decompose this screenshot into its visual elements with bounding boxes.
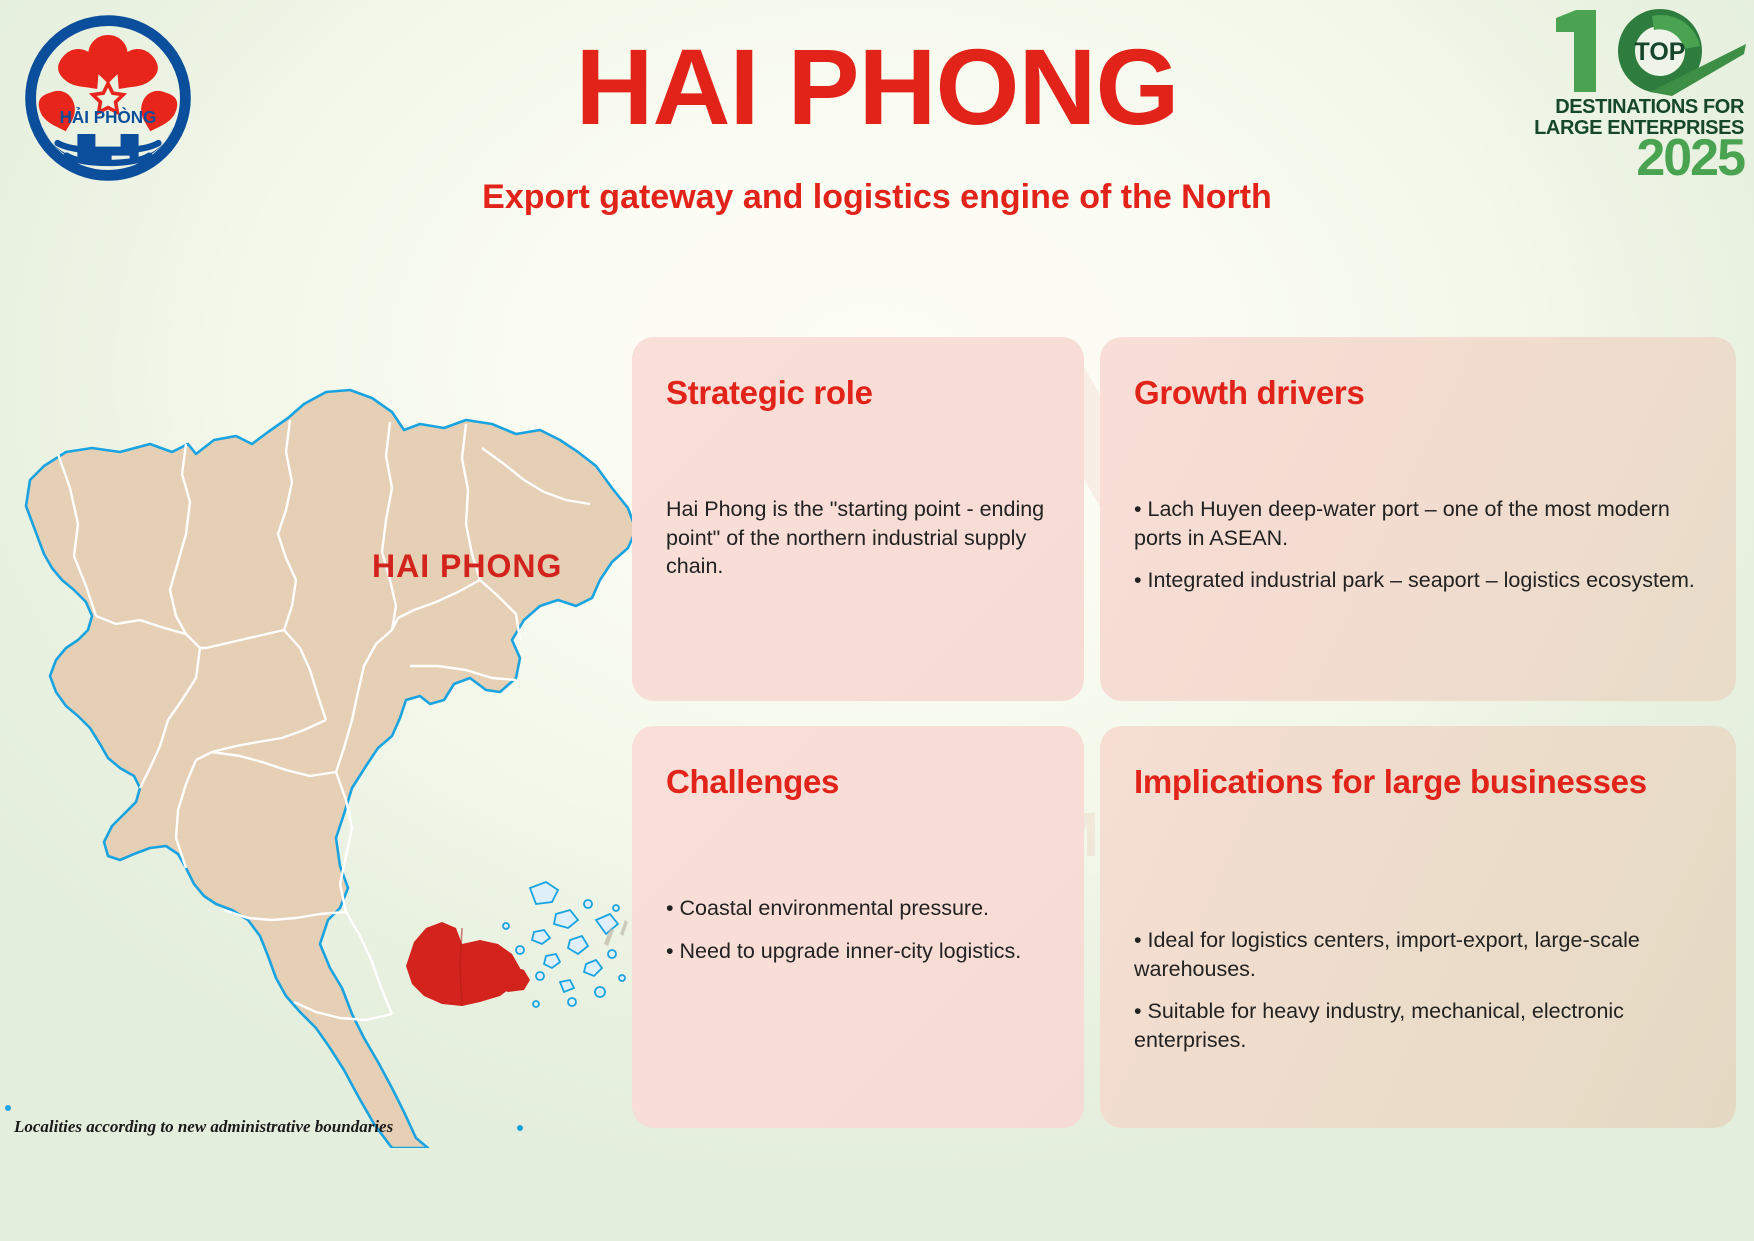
card-strategic-role: Strategic role Hai Phong is the "startin… [632, 337, 1084, 701]
card-growth-drivers: Growth drivers • Lach Huyen deep-water p… [1100, 337, 1736, 701]
card-implications-for-large-businesses: Implications for large businesses • Idea… [1100, 726, 1736, 1128]
card-bullet: • Ideal for logistics centers, import-ex… [1134, 926, 1706, 983]
card-bullet: • Lach Huyen deep-water port – one of th… [1134, 495, 1706, 552]
card-bullet: • Integrated industrial park – seaport –… [1134, 566, 1706, 595]
card-challenges: Challenges • Coastal environmental press… [632, 726, 1084, 1128]
card-title-implications: Implications for large businesses [1134, 762, 1702, 802]
card-title-growth-drivers: Growth drivers [1134, 373, 1702, 413]
badge-line-1: DESTINATIONS FOR [1524, 96, 1744, 119]
card-body-strategic-role: Hai Phong is the "starting point - endin… [666, 495, 1054, 581]
badge-rank-icon: TOP [1532, 4, 1747, 99]
page-subtitle: Export gateway and logistics engine of t… [0, 178, 1754, 217]
map-footnote: Localities according to new administrati… [14, 1117, 393, 1137]
card-text: Hai Phong is the "starting point - endin… [666, 495, 1054, 581]
map-highlight-label: HAI PHONG [372, 548, 562, 585]
card-bullet: • Suitable for heavy industry, mechanica… [1134, 997, 1706, 1054]
card-title-strategic-role: Strategic role [666, 373, 1050, 413]
page-title: HAI PHONG [0, 30, 1754, 143]
card-bullet: • Need to upgrade inner-city logistics. [666, 937, 1054, 966]
badge-year: 2025 [1524, 132, 1744, 184]
card-bullet: • Coastal environmental pressure. [666, 894, 1054, 923]
card-body-growth-drivers: • Lach Huyen deep-water port – one of th… [1134, 495, 1706, 595]
infographic-canvas: VNR VIETNAM REPORT HẢI PHÒNG HAI PHONG [0, 0, 1754, 1241]
card-title-challenges: Challenges [666, 762, 1050, 802]
svg-text:TOP: TOP [1635, 38, 1686, 66]
card-body-challenges: • Coastal environmental pressure. • Need… [666, 894, 1054, 965]
card-body-implications: • Ideal for logistics centers, import-ex… [1134, 926, 1706, 1054]
top-10-award-badge: TOP DESTINATIONS FOR LARGE ENTERPRISES 2… [1524, 4, 1744, 179]
northern-vietnam-map [0, 348, 640, 1148]
